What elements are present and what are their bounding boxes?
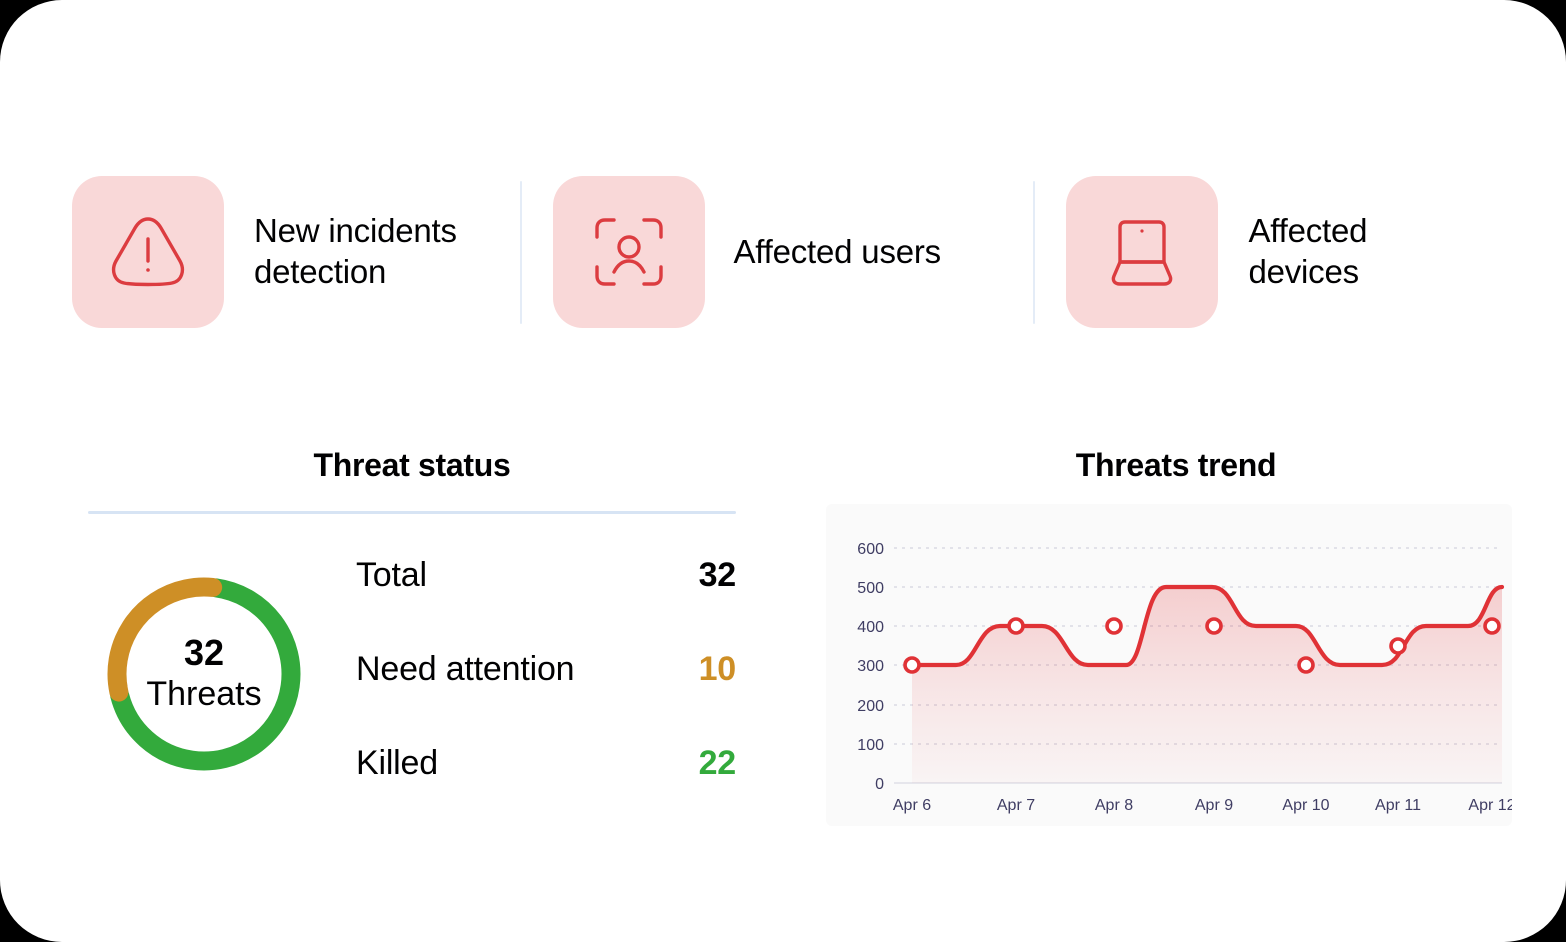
warning-triangle-icon-box	[72, 176, 224, 328]
laptop-icon	[1096, 206, 1188, 298]
y-tick-400: 400	[857, 619, 884, 636]
kpi-label-new-incidents: New incidentsdetection	[254, 211, 457, 293]
y-tick-500: 500	[857, 580, 884, 597]
threat-status-title: Threat status	[88, 447, 736, 484]
kpi-strip: New incidentsdetection Affected users	[72, 176, 1492, 328]
kpi-label-affected-users: Affected users	[733, 232, 941, 273]
marker-apr-9	[1207, 619, 1221, 633]
dashboard-page: New incidentsdetection Affected users	[0, 0, 1566, 942]
marker-apr-11	[1391, 639, 1405, 653]
donut-center-label: 32 Threats	[102, 572, 306, 776]
x-tick-apr-10: Apr 10	[1282, 797, 1329, 814]
laptop-icon-box	[1066, 176, 1218, 328]
legend-row-need-attention: Need attention 10	[356, 650, 736, 744]
threat-status-donut: 32 Threats	[102, 572, 306, 776]
legend-value-total: 32	[699, 556, 736, 595]
y-tick-300: 300	[857, 658, 884, 675]
chart-x-axis-labels: Apr 6 Apr 7 Apr 8 Apr 9 Apr 10 Apr 11 Ap…	[893, 797, 1512, 814]
threat-status-panel: 32 Threats Total 32 Need attention 10 Ki…	[88, 556, 736, 826]
legend-value-need-attention: 10	[699, 650, 736, 689]
marker-apr-6	[905, 658, 919, 672]
threat-status-divider	[88, 511, 736, 514]
x-tick-apr-11: Apr 11	[1375, 797, 1421, 814]
kpi-label-affected-devices: Affecteddevices	[1248, 211, 1367, 293]
threats-trend-chart: 600 500 400 300 200 100 0	[826, 504, 1512, 826]
warning-triangle-icon	[102, 206, 194, 298]
y-tick-600: 600	[857, 541, 884, 558]
legend-row-total: Total 32	[356, 556, 736, 650]
x-tick-apr-9: Apr 9	[1195, 797, 1233, 814]
marker-apr-7	[1009, 619, 1023, 633]
kpi-label-line2: detection	[254, 253, 386, 290]
user-scan-icon	[583, 206, 675, 298]
legend-label-need-attention: Need attention	[356, 650, 574, 689]
chart-area-fill	[912, 587, 1502, 783]
donut-total-unit: Threats	[146, 675, 261, 714]
x-tick-apr-6: Apr 6	[893, 797, 931, 814]
threats-trend-title: Threats trend	[836, 447, 1516, 484]
marker-apr-10	[1299, 658, 1313, 672]
threat-status-legend: Total 32 Need attention 10 Killed 22	[356, 556, 736, 838]
marker-apr-12	[1485, 619, 1499, 633]
x-tick-apr-7: Apr 7	[997, 797, 1035, 814]
kpi-new-incidents[interactable]: New incidentsdetection	[72, 176, 522, 328]
y-tick-100: 100	[857, 737, 884, 754]
user-scan-icon-box	[553, 176, 705, 328]
kpi-affected-users[interactable]: Affected users	[522, 176, 1035, 328]
legend-value-killed: 22	[699, 744, 736, 783]
legend-row-killed: Killed 22	[356, 744, 736, 838]
chart-y-axis-labels: 600 500 400 300 200 100 0	[857, 541, 884, 793]
x-tick-apr-12: Apr 12	[1468, 797, 1512, 814]
threats-trend-card: 600 500 400 300 200 100 0	[826, 504, 1512, 826]
kpi-label-line1: New incidents	[254, 212, 457, 249]
x-tick-apr-8: Apr 8	[1095, 797, 1133, 814]
donut-total-value: 32	[184, 634, 224, 673]
kpi-affected-devices[interactable]: Affecteddevices	[1035, 176, 1492, 328]
kpi-label-line2: devices	[1248, 253, 1359, 290]
legend-label-killed: Killed	[356, 744, 438, 783]
kpi-label-line1: Affected	[1248, 212, 1367, 249]
y-tick-0: 0	[875, 776, 884, 793]
legend-label-total: Total	[356, 556, 427, 595]
marker-apr-8	[1107, 619, 1121, 633]
y-tick-200: 200	[857, 698, 884, 715]
